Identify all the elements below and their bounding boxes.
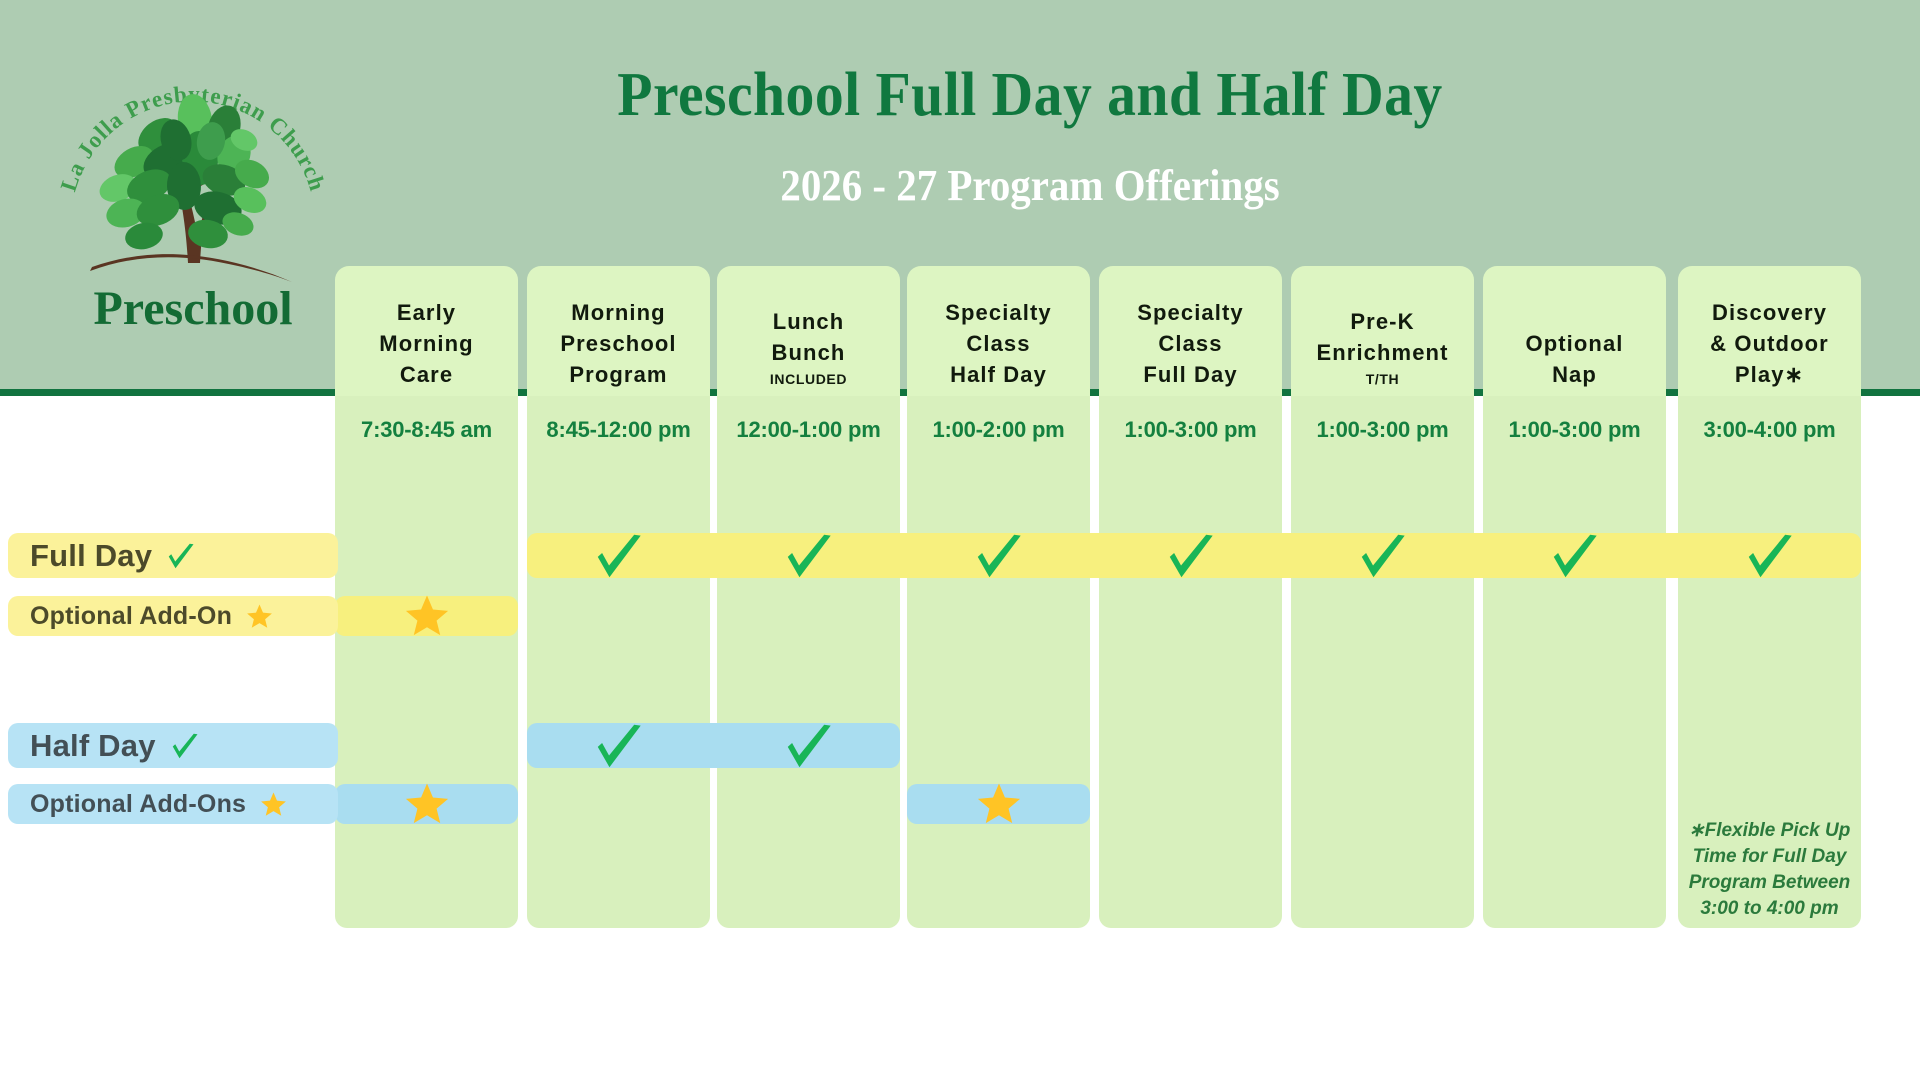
column-time-optional-nap: 1:00-3:00 pm — [1483, 414, 1666, 446]
column-header-line: Care — [400, 359, 453, 390]
column-header-line: Lunch — [773, 306, 845, 337]
column-strip-pre-k-enrichment — [1291, 396, 1474, 928]
check-icon-morning-preschool — [527, 720, 710, 772]
row-label-optional-add-ons[interactable]: Optional Add-Ons — [8, 784, 338, 824]
column-header-line: Full Day — [1143, 359, 1237, 390]
column-header-specialty-half-day: SpecialtyClassHalf Day — [907, 266, 1090, 396]
column-header-line: Specialty — [1137, 297, 1244, 328]
footnote-line: Time for Full Day — [1678, 844, 1861, 870]
row-label-text: Optional Add-On — [30, 602, 232, 631]
column-strip-optional-nap — [1483, 396, 1666, 928]
check-icon-specialty-full-day — [1099, 530, 1282, 582]
footnote-line: 3:00 to 4:00 pm — [1678, 896, 1861, 922]
check-icon-specialty-half-day — [907, 530, 1090, 582]
footnote: ∗Flexible Pick UpTime for Full DayProgra… — [1678, 818, 1861, 922]
check-icon-lunch-bunch — [717, 720, 900, 772]
column-header-specialty-full-day: SpecialtyClassFull Day — [1099, 266, 1282, 396]
column-header-line: Half Day — [950, 359, 1047, 390]
row-label-text: Full Day — [30, 538, 152, 574]
column-header-line: Discovery — [1712, 297, 1827, 328]
logo-wordmark: Preschool — [93, 282, 292, 335]
row-label-optional-add-on[interactable]: Optional Add-On — [8, 596, 338, 636]
column-header-optional-nap: OptionalNap — [1483, 266, 1666, 396]
column-time-lunch-bunch: 12:00-1:00 pm — [717, 414, 900, 446]
row-label-half-day[interactable]: Half Day — [8, 723, 338, 768]
column-header-line: Play∗ — [1735, 359, 1804, 390]
check-icon — [166, 541, 196, 571]
check-icon-discovery-outdoor — [1678, 530, 1861, 582]
column-strip-early-morning-care — [335, 396, 518, 928]
footnote-line: Program Between — [1678, 870, 1861, 896]
star-icon-early-morning-care — [335, 781, 518, 827]
check-icon-pre-k-enrichment — [1291, 530, 1474, 582]
column-strip-specialty-half-day — [907, 396, 1090, 928]
page-subtitle: 2026 - 27 Program Offerings — [426, 160, 1635, 212]
star-icon — [246, 603, 273, 630]
check-icon-lunch-bunch — [717, 530, 900, 582]
column-header-line: Bunch — [772, 337, 846, 368]
column-header-note: INCLUDED — [770, 368, 847, 390]
school-logo: La Jolla Presbyterian Church — [48, 28, 338, 338]
column-header-line: Morning — [379, 328, 473, 359]
column-time-morning-preschool: 8:45-12:00 pm — [527, 414, 710, 446]
column-header-line: Pre-K — [1350, 306, 1414, 337]
row-label-text: Optional Add-Ons — [30, 790, 246, 819]
column-header-morning-preschool: MorningPreschoolProgram — [527, 266, 710, 396]
page-title: Preschool Full Day and Half Day — [426, 60, 1635, 130]
column-time-specialty-full-day: 1:00-3:00 pm — [1099, 414, 1282, 446]
row-label-text: Half Day — [30, 728, 156, 764]
column-header-line: Morning — [571, 297, 665, 328]
column-header-pre-k-enrichment: Pre-KEnrichmentT/TH — [1291, 266, 1474, 396]
column-header-note: T/TH — [1366, 368, 1400, 390]
column-time-discovery-outdoor: 3:00-4:00 pm — [1678, 414, 1861, 446]
check-icon-morning-preschool — [527, 530, 710, 582]
column-header-line: Class — [966, 328, 1030, 359]
column-time-pre-k-enrichment: 1:00-3:00 pm — [1291, 414, 1474, 446]
column-time-specialty-half-day: 1:00-2:00 pm — [907, 414, 1090, 446]
column-header-lunch-bunch: LunchBunchINCLUDED — [717, 266, 900, 396]
column-header-line: Preschool — [560, 328, 676, 359]
footnote-line: ∗Flexible Pick Up — [1678, 818, 1861, 844]
star-icon — [260, 791, 287, 818]
column-strip-lunch-bunch — [717, 396, 900, 928]
column-header-line: & Outdoor — [1710, 328, 1829, 359]
column-time-early-morning-care: 7:30-8:45 am — [335, 414, 518, 446]
column-strip-morning-preschool — [527, 396, 710, 928]
column-header-line: Enrichment — [1316, 337, 1448, 368]
column-header-line: Early — [397, 297, 456, 328]
star-icon-early-morning-care — [335, 593, 518, 639]
column-header-line: Specialty — [945, 297, 1052, 328]
column-header-line: Class — [1158, 328, 1222, 359]
column-header-line: Nap — [1552, 359, 1597, 390]
column-header-discovery-outdoor: Discovery& OutdoorPlay∗ — [1678, 266, 1861, 396]
column-header-line: Optional — [1525, 328, 1623, 359]
column-strip-specialty-full-day — [1099, 396, 1282, 928]
star-icon-specialty-half-day — [907, 781, 1090, 827]
column-header-line: Program — [569, 359, 667, 390]
row-label-full-day[interactable]: Full Day — [8, 533, 338, 578]
column-header-early-morning-care: EarlyMorningCare — [335, 266, 518, 396]
check-icon-optional-nap — [1483, 530, 1666, 582]
check-icon — [170, 731, 200, 761]
